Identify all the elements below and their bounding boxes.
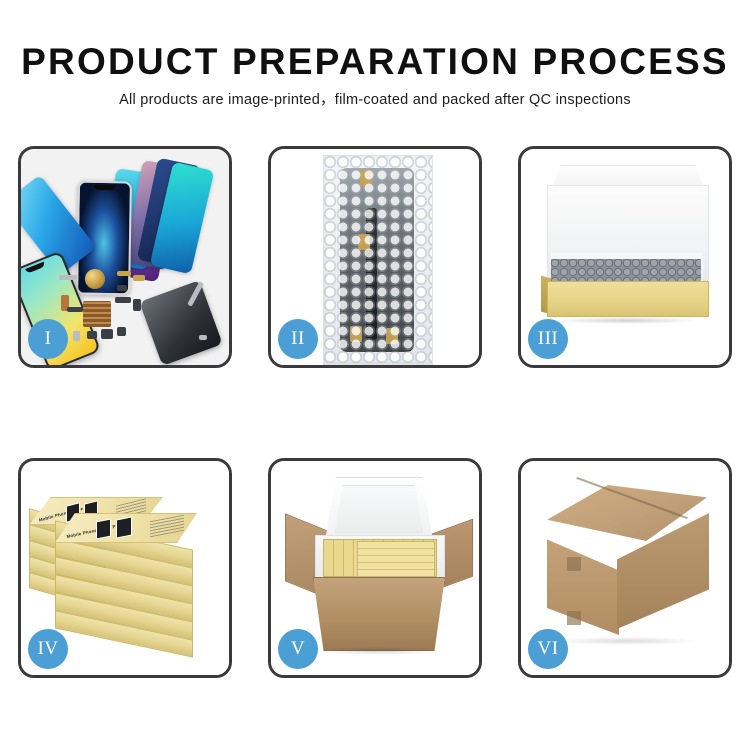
box-front-panel: [547, 281, 709, 317]
page-subtitle: All products are image-printed，film-coat…: [0, 82, 750, 109]
part-contact-1: [117, 271, 131, 276]
step-badge-3: III: [528, 319, 568, 359]
box-drop-shadow: [557, 317, 697, 324]
step-badge-4: IV: [28, 629, 68, 669]
wrapped-display-part: [340, 168, 414, 352]
part-flex-3: [115, 297, 131, 303]
part-chip-4: [117, 327, 126, 336]
packed-kraft-boxes-right: [357, 541, 435, 577]
part-chip-2: [133, 299, 141, 311]
wrapped-flex-cable: [366, 208, 377, 340]
part-chip-1: [117, 285, 127, 291]
process-step-card-6[interactable]: VI: [518, 458, 732, 678]
part-screw-set: [199, 335, 207, 340]
process-step-card-5[interactable]: V: [268, 458, 482, 678]
carton-tab-lower: [567, 611, 581, 625]
speaker-module: [85, 269, 105, 289]
carton-left-face: [547, 531, 619, 635]
process-step-card-4[interactable]: Mobile Phone Spare Parts Mobile Phone: [18, 458, 232, 678]
product-preparation-process-infographic: PRODUCT PREPARATION PROCESS All products…: [0, 0, 750, 750]
box-window-front-1: [96, 519, 111, 540]
connector-bottom-right: [386, 328, 398, 344]
part-sim-tray: [73, 331, 80, 341]
step-badge-6: VI: [528, 629, 568, 669]
process-step-card-3[interactable]: III: [518, 146, 732, 368]
page-title: PRODUCT PREPARATION PROCESS: [0, 0, 750, 82]
logic-board-grid: [83, 301, 111, 327]
stack-box-front-lid: Mobile Phone Spare Parts: [55, 513, 197, 543]
part-bracket-1: [59, 275, 77, 280]
process-steps-grid: I II: [0, 135, 750, 695]
carton-drop-shadow: [319, 647, 437, 655]
connector-top: [360, 170, 372, 186]
process-step-card-2[interactable]: II: [268, 146, 482, 368]
step-badge-5: V: [278, 629, 318, 669]
connector-bottom-left: [350, 326, 362, 342]
part-flex-2: [67, 307, 83, 312]
header: PRODUCT PREPARATION PROCESS All products…: [0, 0, 750, 109]
connector-mid: [358, 234, 370, 250]
carton-body: [313, 577, 445, 651]
box-window-front-2: [116, 516, 132, 538]
step-badge-1: I: [28, 319, 68, 359]
carton-tab-upper: [567, 557, 581, 571]
box-print-lines-front: [150, 515, 184, 540]
part-chip-3: [87, 331, 97, 339]
sealed-carton-drop-shadow: [559, 637, 695, 645]
phone-back-housing: [139, 280, 222, 365]
part-camera: [101, 329, 113, 339]
process-step-card-1[interactable]: I: [18, 146, 232, 368]
bubble-wrap-bag: [323, 155, 433, 365]
part-contact-2: [133, 275, 145, 281]
step-badge-2: II: [278, 319, 318, 359]
foam-lid-recess: [335, 485, 423, 533]
